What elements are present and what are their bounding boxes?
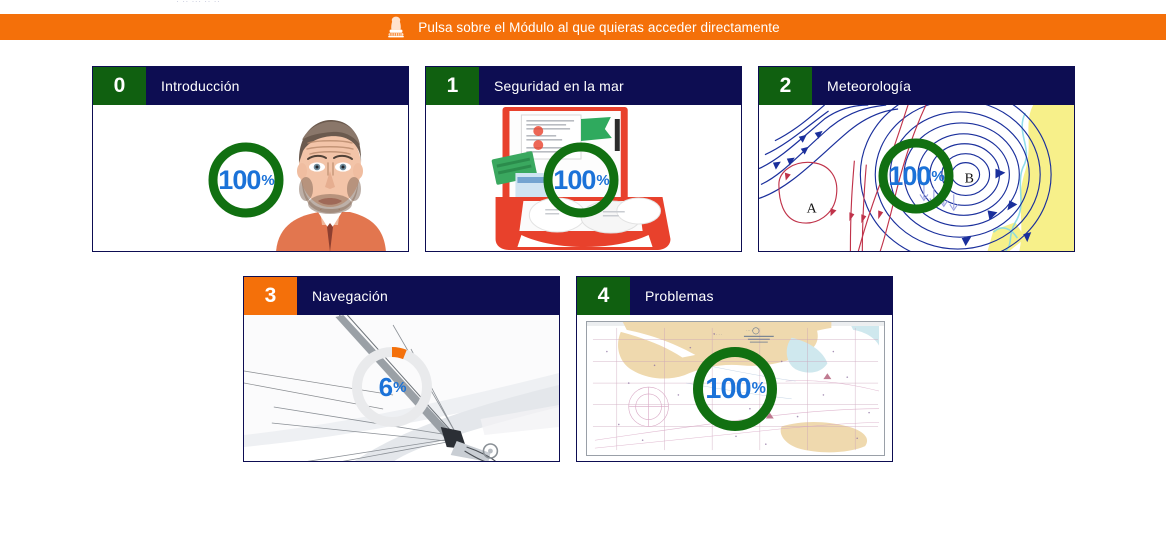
- module-card-seguridad-en-la-mar[interactable]: 1 Seguridad en la mar: [425, 66, 742, 252]
- module-thumbnail[interactable]: A B 100 %: [759, 105, 1074, 252]
- module-row-bottom: 3 Navegación: [243, 276, 893, 462]
- module-title: Meteorología: [812, 67, 911, 105]
- progress-donut: 100 %: [689, 343, 781, 435]
- module-title: Navegación: [297, 277, 388, 315]
- module-number-badge: 1: [426, 67, 479, 105]
- progress-ring: [689, 343, 781, 435]
- hand-tap-icon: [386, 16, 406, 38]
- module-thumbnail[interactable]: 100 %: [426, 105, 741, 252]
- clipped-top-text: · ·· ··· ·· ··: [176, 0, 220, 5]
- svg-text:· ·· ·: · ·· ·: [746, 329, 753, 333]
- module-card-introduccion[interactable]: 0 Introducción: [92, 66, 409, 252]
- progress-ring: [205, 139, 287, 221]
- progress-donut: 6 %: [348, 343, 436, 431]
- module-row-top: 0 Introducción: [92, 66, 1075, 252]
- low-pressure-label: B: [965, 172, 974, 187]
- module-number-badge: 3: [244, 277, 297, 315]
- high-pressure-label: A: [807, 201, 817, 216]
- module-number-badge: 0: [93, 67, 146, 105]
- module-thumbnail[interactable]: · · · · · ·· ·: [577, 315, 892, 462]
- module-card-meteorologia[interactable]: 2 Meteorología: [758, 66, 1075, 252]
- module-card-header: 0 Introducción: [93, 67, 408, 105]
- progress-ring: [875, 135, 957, 217]
- module-thumbnail[interactable]: 100 %: [93, 105, 408, 252]
- module-card-header: 1 Seguridad en la mar: [426, 67, 741, 105]
- progress-ring: [348, 343, 436, 431]
- module-title: Introducción: [146, 67, 240, 105]
- module-title: Seguridad en la mar: [479, 67, 624, 105]
- module-number-badge: 4: [577, 277, 630, 315]
- svg-text:· · · ·: · · · ·: [714, 333, 722, 337]
- progress-ring: [540, 139, 622, 221]
- module-card-problemas[interactable]: 4 Problemas: [576, 276, 893, 462]
- module-card-header: 2 Meteorología: [759, 67, 1074, 105]
- module-card-navegacion[interactable]: 3 Navegación: [243, 276, 560, 462]
- instruction-banner: Pulsa sobre el Módulo al que quieras acc…: [0, 14, 1166, 40]
- module-selection-page: · ·· ··· ·· ·· Pulsa sobre el Módulo al …: [0, 0, 1166, 544]
- progress-donut: 100 %: [875, 135, 957, 217]
- progress-donut: 100 %: [205, 139, 287, 221]
- module-title: Problemas: [630, 277, 714, 315]
- module-number-badge: 2: [759, 67, 812, 105]
- module-thumbnail[interactable]: 6 %: [244, 315, 559, 462]
- progress-donut: 100 %: [540, 139, 622, 221]
- instruction-banner-text: Pulsa sobre el Módulo al que quieras acc…: [418, 20, 779, 35]
- module-card-header: 3 Navegación: [244, 277, 559, 315]
- module-card-header: 4 Problemas: [577, 277, 892, 315]
